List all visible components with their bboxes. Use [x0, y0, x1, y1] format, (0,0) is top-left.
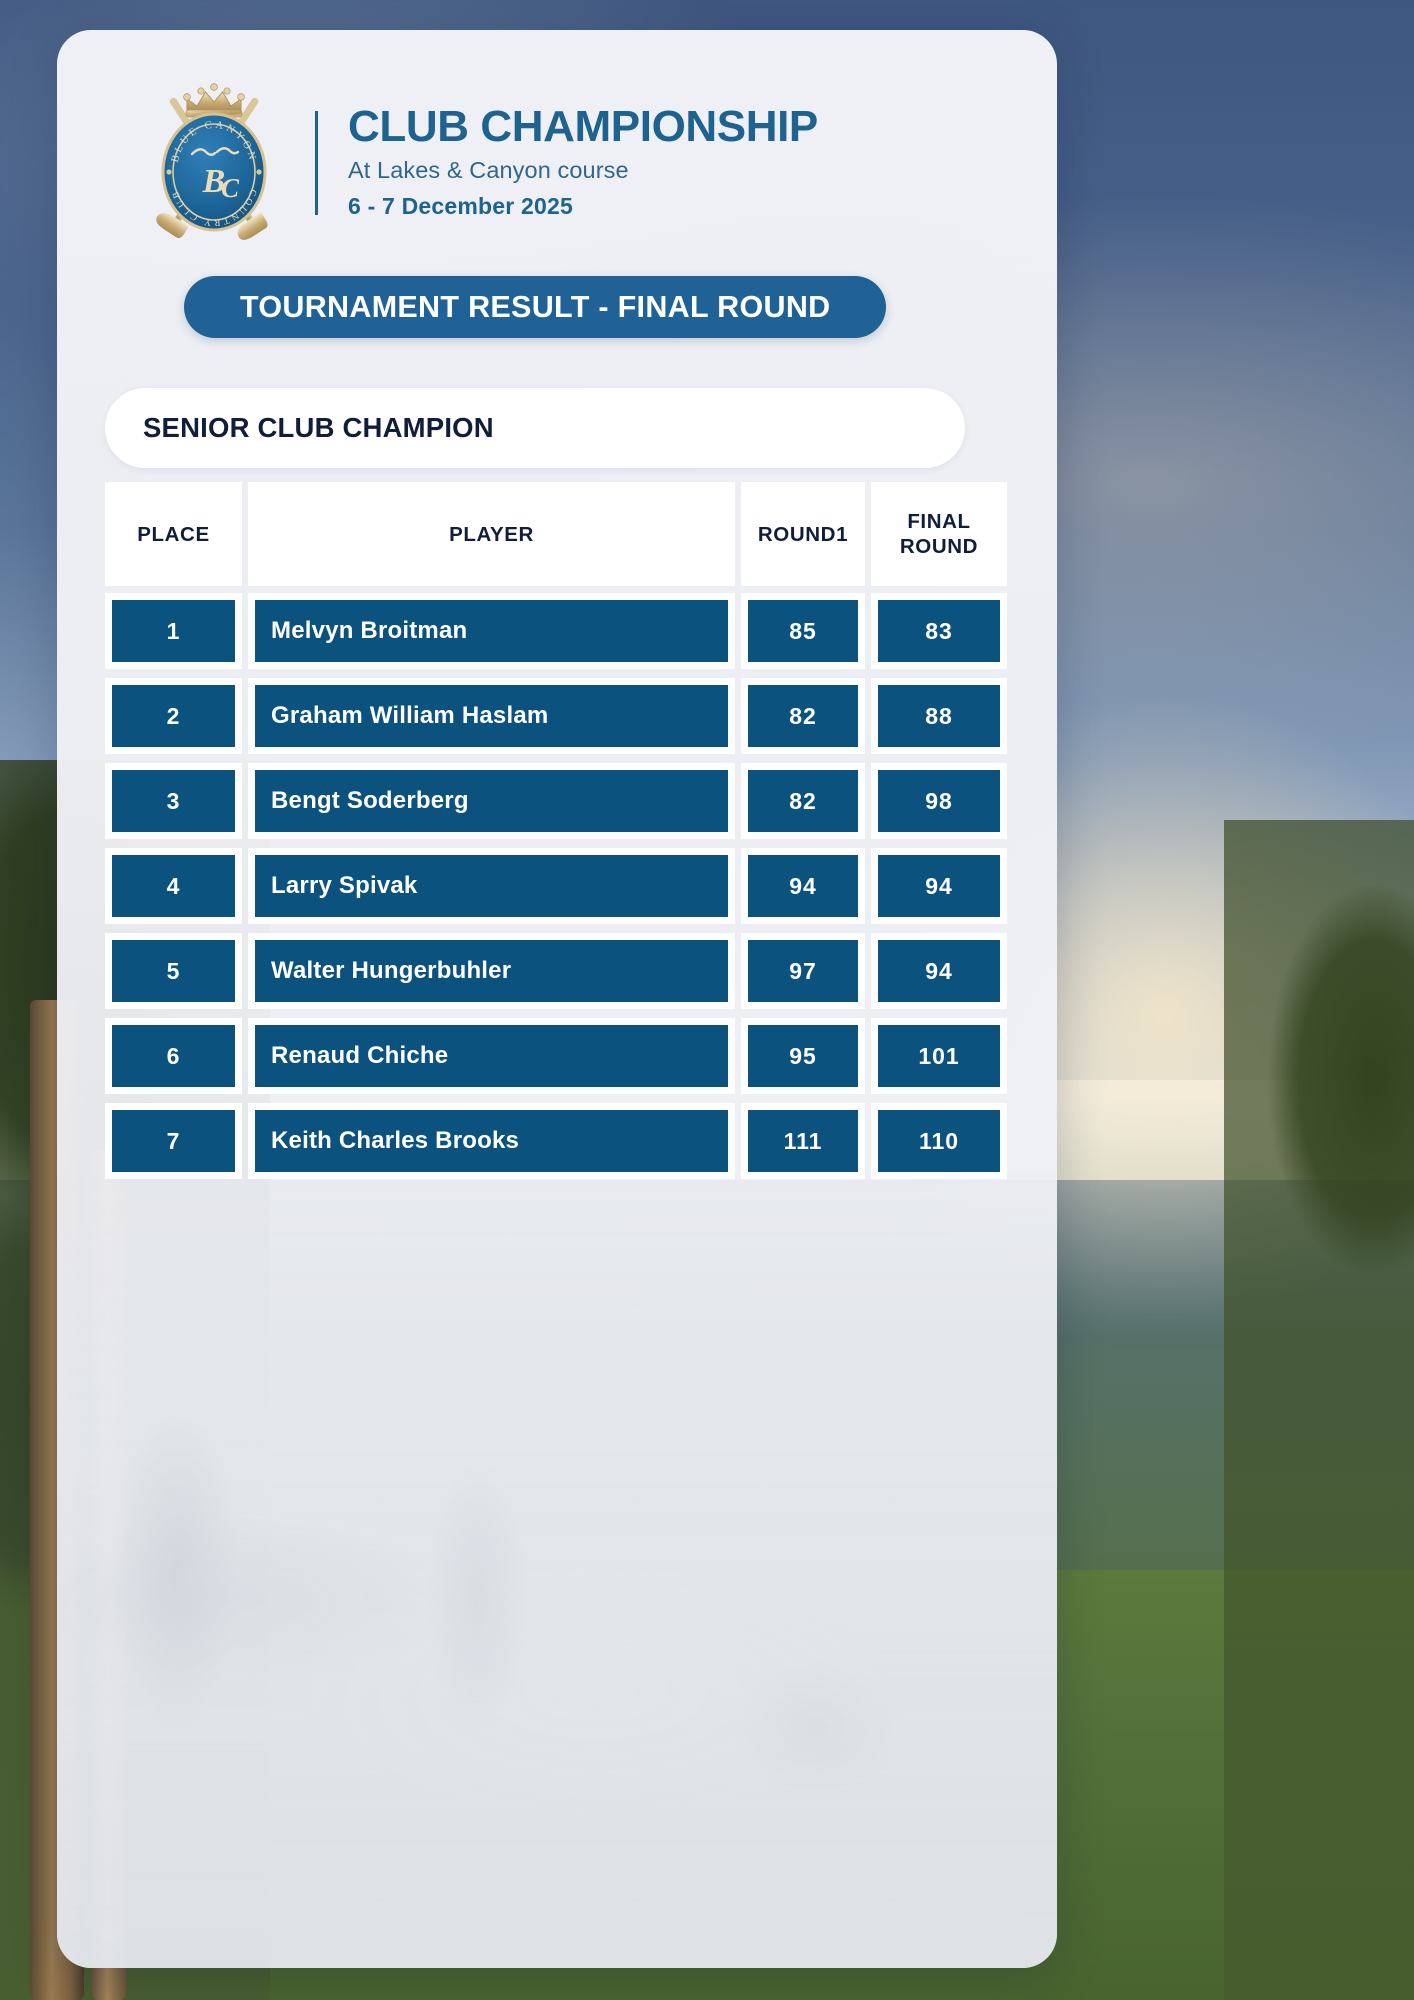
- row-player-cell: Walter Hungerbuhler: [255, 940, 728, 1002]
- card-header: BLUE CANYON COUNTRY CLUB B C: [57, 30, 1057, 240]
- row-player-cell-wrapper: Melvyn Broitman: [248, 593, 735, 669]
- row-player-cell-wrapper: Larry Spivak: [248, 848, 735, 924]
- column-header-player: PLAYER: [248, 482, 735, 586]
- row-place-cell: 7: [112, 1110, 235, 1172]
- row-round1-cell-wrapper: 95: [741, 1018, 865, 1094]
- row-player-cell: Larry Spivak: [255, 855, 728, 917]
- table-row: 5Walter Hungerbuhler9794: [105, 933, 1009, 1009]
- row-round1-cell: 82: [748, 770, 858, 832]
- row-final-cell: 83: [878, 600, 1000, 662]
- table-row: 7Keith Charles Brooks111110: [105, 1103, 1009, 1179]
- table-row: 6Renaud Chiche95101: [105, 1018, 1009, 1094]
- row-player-cell-wrapper: Walter Hungerbuhler: [248, 933, 735, 1009]
- row-place-cell: 6: [112, 1025, 235, 1087]
- page-subtitle: At Lakes & Canyon course: [348, 157, 818, 184]
- row-place-cell: 4: [112, 855, 235, 917]
- table-row: 4Larry Spivak9494: [105, 848, 1009, 924]
- row-final-cell-wrapper: 94: [871, 848, 1007, 924]
- row-round1-cell-wrapper: 82: [741, 763, 865, 839]
- row-place-cell-wrapper: 4: [105, 848, 242, 924]
- row-final-cell-wrapper: 94: [871, 933, 1007, 1009]
- results-table: PLACE PLAYER ROUND1 FINAL ROUND 1Melvyn …: [57, 468, 1009, 1179]
- column-header-final-round: FINAL ROUND: [871, 482, 1007, 586]
- tree-right: [1224, 820, 1414, 2000]
- row-player-cell-wrapper: Graham William Haslam: [248, 678, 735, 754]
- row-final-cell: 98: [878, 770, 1000, 832]
- row-final-cell: 94: [878, 855, 1000, 917]
- row-place-cell-wrapper: 2: [105, 678, 242, 754]
- row-round1-cell-wrapper: 97: [741, 933, 865, 1009]
- column-header-final-line1: FINAL: [900, 509, 978, 534]
- row-player-cell: Graham William Haslam: [255, 685, 728, 747]
- row-final-cell: 94: [878, 940, 1000, 1002]
- column-header-final-line2: ROUND: [900, 534, 978, 559]
- row-place-cell: 5: [112, 940, 235, 1002]
- row-place-cell-wrapper: 7: [105, 1103, 242, 1179]
- column-header-round1: ROUND1: [741, 482, 865, 586]
- crown-icon: [184, 84, 245, 117]
- row-round1-cell: 111: [748, 1110, 858, 1172]
- row-place-cell-wrapper: 6: [105, 1018, 242, 1094]
- row-place-cell: 2: [112, 685, 235, 747]
- row-round1-cell: 94: [748, 855, 858, 917]
- page-background: BLUE CANYON COUNTRY CLUB B C: [0, 0, 1414, 2000]
- card-watermark-photo: [57, 1168, 1057, 1968]
- row-player-cell: Keith Charles Brooks: [255, 1110, 728, 1172]
- row-player-cell: Renaud Chiche: [255, 1025, 728, 1087]
- header-divider: [315, 111, 318, 215]
- row-round1-cell: 82: [748, 685, 858, 747]
- row-round1-cell-wrapper: 111: [741, 1103, 865, 1179]
- row-final-cell-wrapper: 83: [871, 593, 1007, 669]
- row-player-cell: Bengt Soderberg: [255, 770, 728, 832]
- row-place-cell: 1: [112, 600, 235, 662]
- svg-text:C: C: [221, 173, 240, 203]
- result-banner: TOURNAMENT RESULT - FINAL ROUND: [184, 276, 886, 338]
- row-final-cell-wrapper: 98: [871, 763, 1007, 839]
- row-final-cell: 88: [878, 685, 1000, 747]
- results-card: BLUE CANYON COUNTRY CLUB B C: [57, 30, 1057, 1968]
- row-place-cell: 3: [112, 770, 235, 832]
- tournament-dates: 6 - 7 December 2025: [348, 193, 818, 220]
- table-row: 2Graham William Haslam8288: [105, 678, 1009, 754]
- row-player-cell-wrapper: Bengt Soderberg: [248, 763, 735, 839]
- category-label: SENIOR CLUB CHAMPION: [143, 412, 494, 444]
- row-final-cell: 110: [878, 1110, 1000, 1172]
- table-header-row: PLACE PLAYER ROUND1 FINAL ROUND: [105, 482, 1009, 586]
- row-place-cell-wrapper: 1: [105, 593, 242, 669]
- row-player-cell: Melvyn Broitman: [255, 600, 728, 662]
- table-row: 3Bengt Soderberg8298: [105, 763, 1009, 839]
- category-pill: SENIOR CLUB CHAMPION: [105, 388, 965, 468]
- row-player-cell-wrapper: Renaud Chiche: [248, 1018, 735, 1094]
- table-body: 1Melvyn Broitman85832Graham William Hasl…: [105, 593, 1009, 1179]
- row-final-cell-wrapper: 101: [871, 1018, 1007, 1094]
- row-round1-cell: 95: [748, 1025, 858, 1087]
- column-header-place: PLACE: [105, 482, 242, 586]
- row-round1-cell-wrapper: 94: [741, 848, 865, 924]
- row-final-cell-wrapper: 110: [871, 1103, 1007, 1179]
- row-round1-cell: 97: [748, 940, 858, 1002]
- row-place-cell-wrapper: 5: [105, 933, 242, 1009]
- table-row: 1Melvyn Broitman8583: [105, 593, 1009, 669]
- club-crest-icon: BLUE CANYON COUNTRY CLUB B C: [129, 80, 299, 240]
- row-round1-cell: 85: [748, 600, 858, 662]
- row-round1-cell-wrapper: 82: [741, 678, 865, 754]
- row-final-cell-wrapper: 88: [871, 678, 1007, 754]
- row-place-cell-wrapper: 3: [105, 763, 242, 839]
- page-title: CLUB CHAMPIONSHIP: [348, 104, 818, 150]
- row-final-cell: 101: [878, 1025, 1000, 1087]
- row-player-cell-wrapper: Keith Charles Brooks: [248, 1103, 735, 1179]
- row-round1-cell-wrapper: 85: [741, 593, 865, 669]
